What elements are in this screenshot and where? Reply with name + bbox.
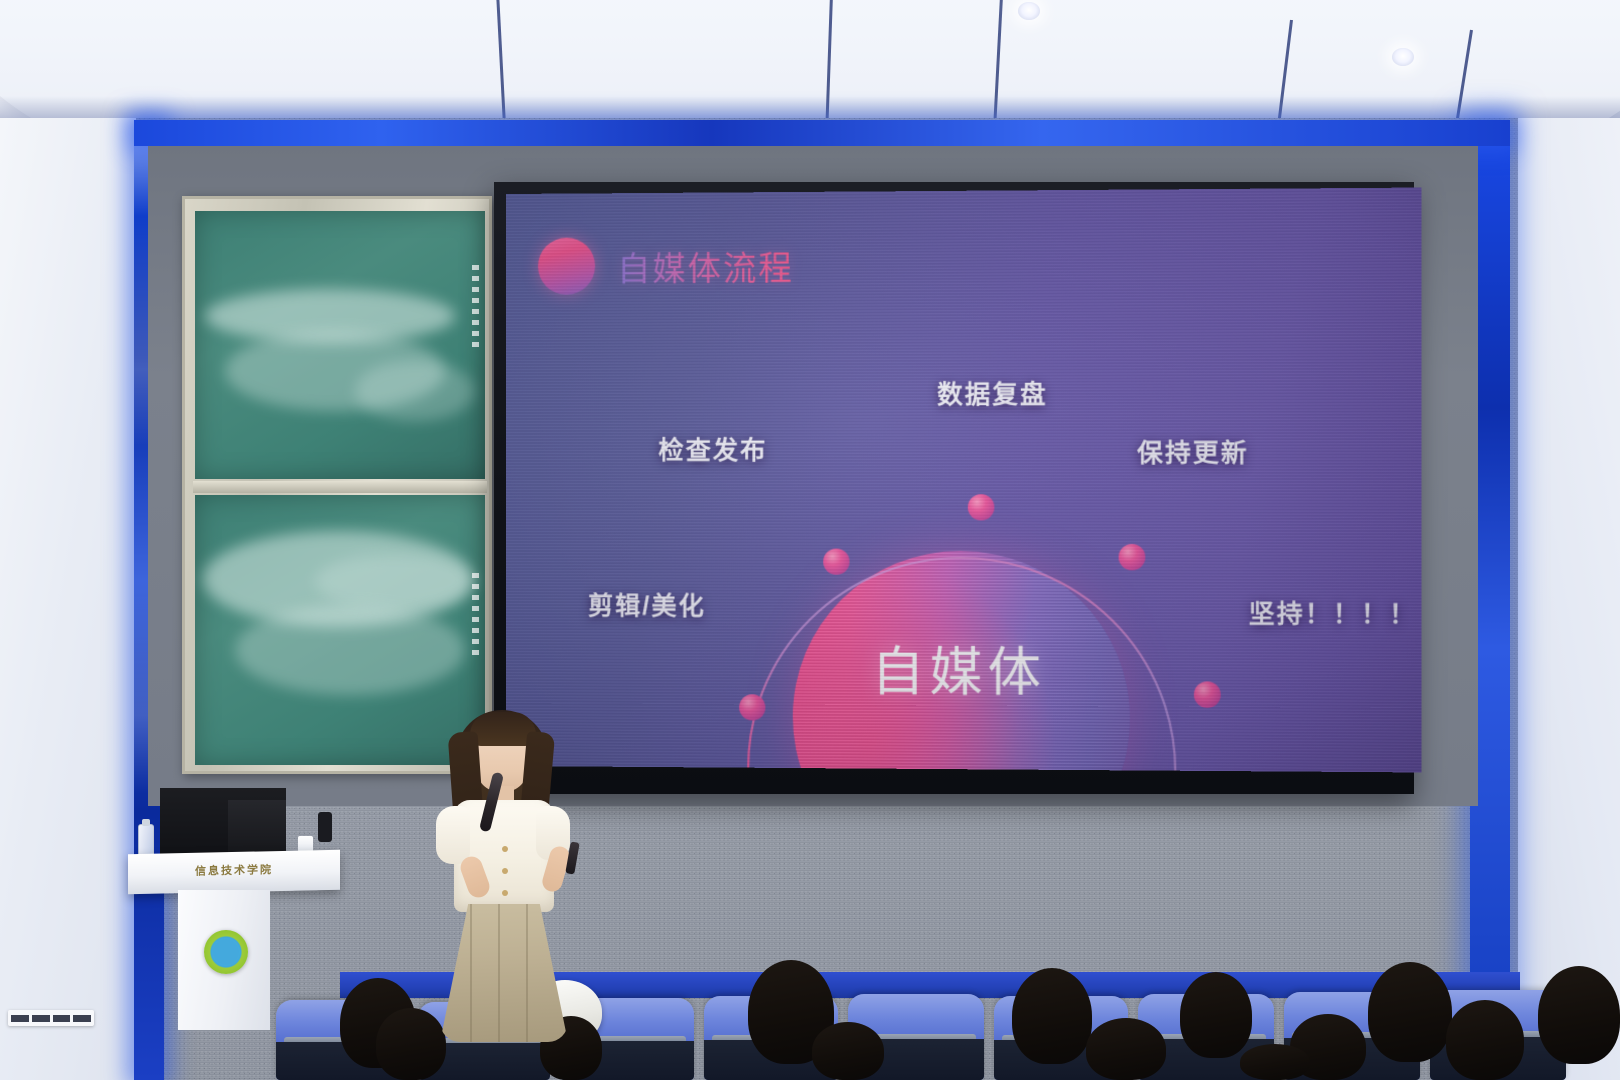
presenter [418,706,598,1036]
slide-title: 自媒体流程 [617,241,794,290]
presenter-sleeve-left [436,806,470,864]
node-label-1: 剪辑/美化 [588,586,706,622]
podium-equipment [228,800,286,852]
switch-toggle[interactable] [53,1015,71,1022]
node-dot-4 [1119,544,1146,570]
switch-toggle[interactable] [73,1015,91,1022]
chalkboard [182,196,492,774]
node-label-2: 检查发布 [658,431,767,467]
slide-title-row: 自媒体流程 [538,236,794,295]
ceiling [0,0,1620,130]
left-side-wall [0,118,136,1080]
node-label-4: 保持更新 [1137,433,1249,470]
node-label-3: 数据复盘 [937,375,1048,412]
blouse-button [502,868,508,874]
blouse-button [502,890,508,896]
chalkboard-ticks [472,265,479,347]
chalkboard-panel-top [195,211,485,479]
ceiling-downlight [1018,2,1040,20]
presenter-skirt [440,904,568,1042]
node-dot-3 [968,494,995,520]
chalkboard-ticks [472,573,479,655]
node-dot-2 [823,549,849,575]
blue-led-strip-top [134,120,1510,146]
presentation-screen[interactable]: 自媒体流程 [506,188,1421,773]
chalkboard-divider [193,481,487,493]
right-side-wall [1518,118,1620,1080]
gradient-circle-icon [538,237,595,294]
podium-name-plate: 信息技术学院 [128,860,340,880]
wall-light-switch[interactable] [8,1010,94,1026]
switch-toggle[interactable] [32,1015,50,1022]
blouse-button [502,846,508,852]
node-label-5: 坚持！！！！ [1249,594,1418,631]
center-label: 自媒体 [506,628,1421,708]
lecture-hall-photo: 自媒体流程 [0,0,1620,1080]
switch-toggle[interactable] [11,1015,29,1022]
school-emblem-icon [204,930,248,974]
podium-desktop: 信息技术学院 [128,850,340,894]
podium-device [318,812,332,842]
ceiling-downlight [1392,48,1414,66]
